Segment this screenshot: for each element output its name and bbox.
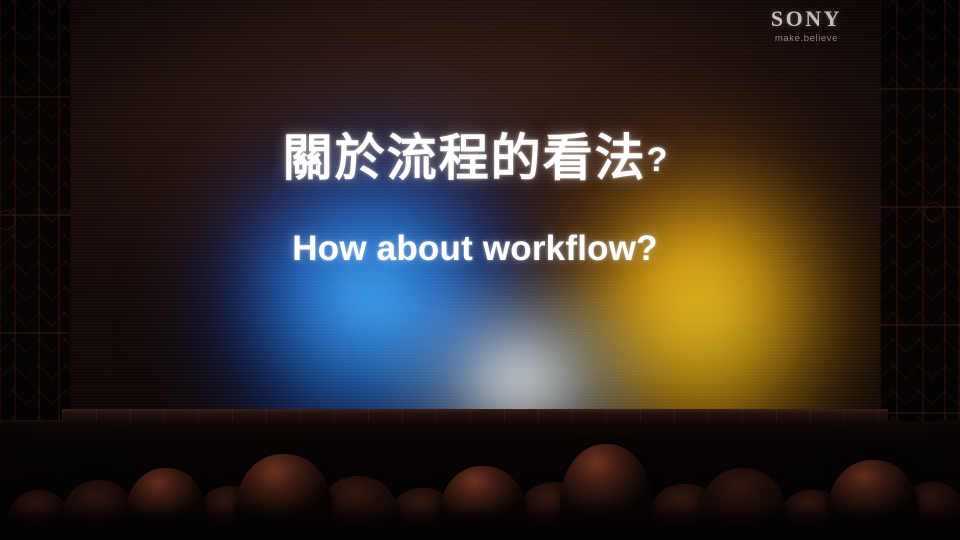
truss-rung <box>880 206 960 208</box>
audience-silhouettes <box>0 420 960 540</box>
truss-rung <box>880 324 960 326</box>
screenshot-stage: 關於流程的看法? How about workflow? SONY make.b… <box>0 0 960 540</box>
sony-tagline: make.believe <box>771 33 842 44</box>
sony-wordmark: SONY <box>771 6 842 32</box>
slide-title: 關於流程的看法? <box>70 132 880 185</box>
slide-title-question-mark: ? <box>647 141 668 179</box>
truss-rung <box>0 332 72 334</box>
sony-logo: SONY make.believe <box>771 6 842 44</box>
truss-rung <box>880 88 960 90</box>
center-hotspot-glow <box>370 260 670 414</box>
truss-hub <box>924 202 944 222</box>
slide-subtitle: How about workflow? <box>70 229 880 269</box>
projection-screen: 關於流程的看法? How about workflow? SONY make.b… <box>70 0 880 414</box>
truss-rung <box>880 412 960 414</box>
slide-title-text: 關於流程的看法 <box>283 130 647 186</box>
audience-foreground-shadow <box>0 506 960 540</box>
truss-rung <box>0 96 72 98</box>
